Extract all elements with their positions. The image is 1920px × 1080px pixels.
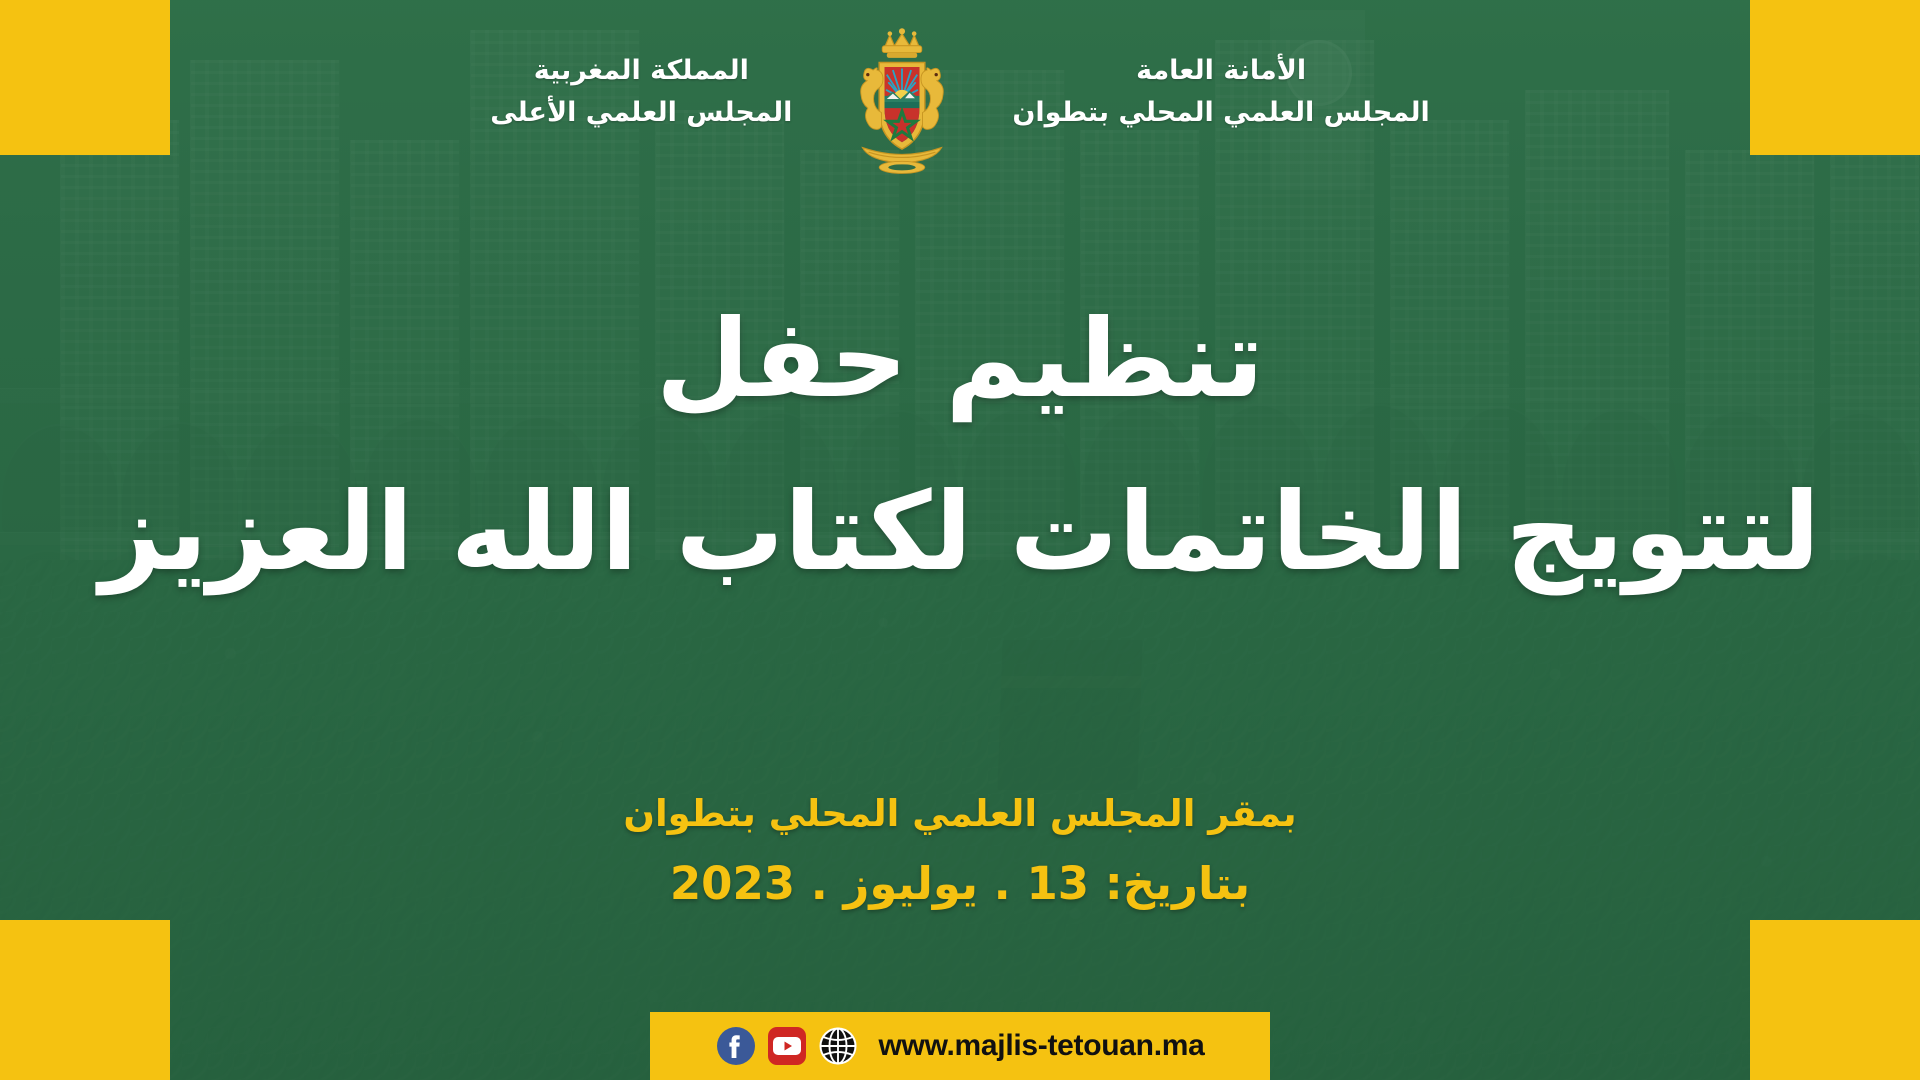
footer-website-bar: www.majlis-tetouan.ma xyxy=(650,1012,1270,1080)
header-right-line2: المجلس العلمي الأعلى xyxy=(490,92,792,134)
header-left-line2: المجلس العلمي المحلي بتطوان xyxy=(1012,92,1429,134)
header-right-line1: المملكة المغربية xyxy=(490,50,792,92)
poster-header: الأمانة العامة المجلس العلمي المحلي بتطو… xyxy=(0,26,1920,178)
header-right-text: المملكة المغربية المجلس العلمي الأعلى xyxy=(490,26,792,134)
corner-block-bottom-right xyxy=(1750,920,1920,1080)
globe-icon[interactable] xyxy=(818,1026,858,1066)
header-left-text: الأمانة العامة المجلس العلمي المحلي بتطو… xyxy=(1012,26,1429,134)
title-line-2: لتتويج الخاتمات لكتاب الله العزيز xyxy=(0,473,1920,594)
date-text: بتاريخ: 13 . يوليوز . 2023 xyxy=(0,850,1920,918)
facebook-icon[interactable] xyxy=(716,1026,756,1066)
morocco-coat-of-arms-icon xyxy=(826,26,978,178)
corner-block-bottom-left xyxy=(0,920,170,1080)
youtube-icon[interactable] xyxy=(767,1026,807,1066)
event-poster: الأمانة العامة المجلس العلمي المحلي بتطو… xyxy=(0,0,1920,1080)
website-url[interactable]: www.majlis-tetouan.ma xyxy=(879,1029,1205,1063)
social-icons xyxy=(716,1026,858,1066)
venue-text: بمقر المجلس العلمي المحلي بتطوان xyxy=(0,786,1920,842)
poster-titles: تنظيم حفل لتتويج الخاتمات لكتاب الله الع… xyxy=(0,300,1920,594)
poster-details: بمقر المجلس العلمي المحلي بتطوان بتاريخ:… xyxy=(0,786,1920,917)
title-line-1: تنظيم حفل xyxy=(0,300,1920,421)
header-left-line1: الأمانة العامة xyxy=(1012,50,1429,92)
